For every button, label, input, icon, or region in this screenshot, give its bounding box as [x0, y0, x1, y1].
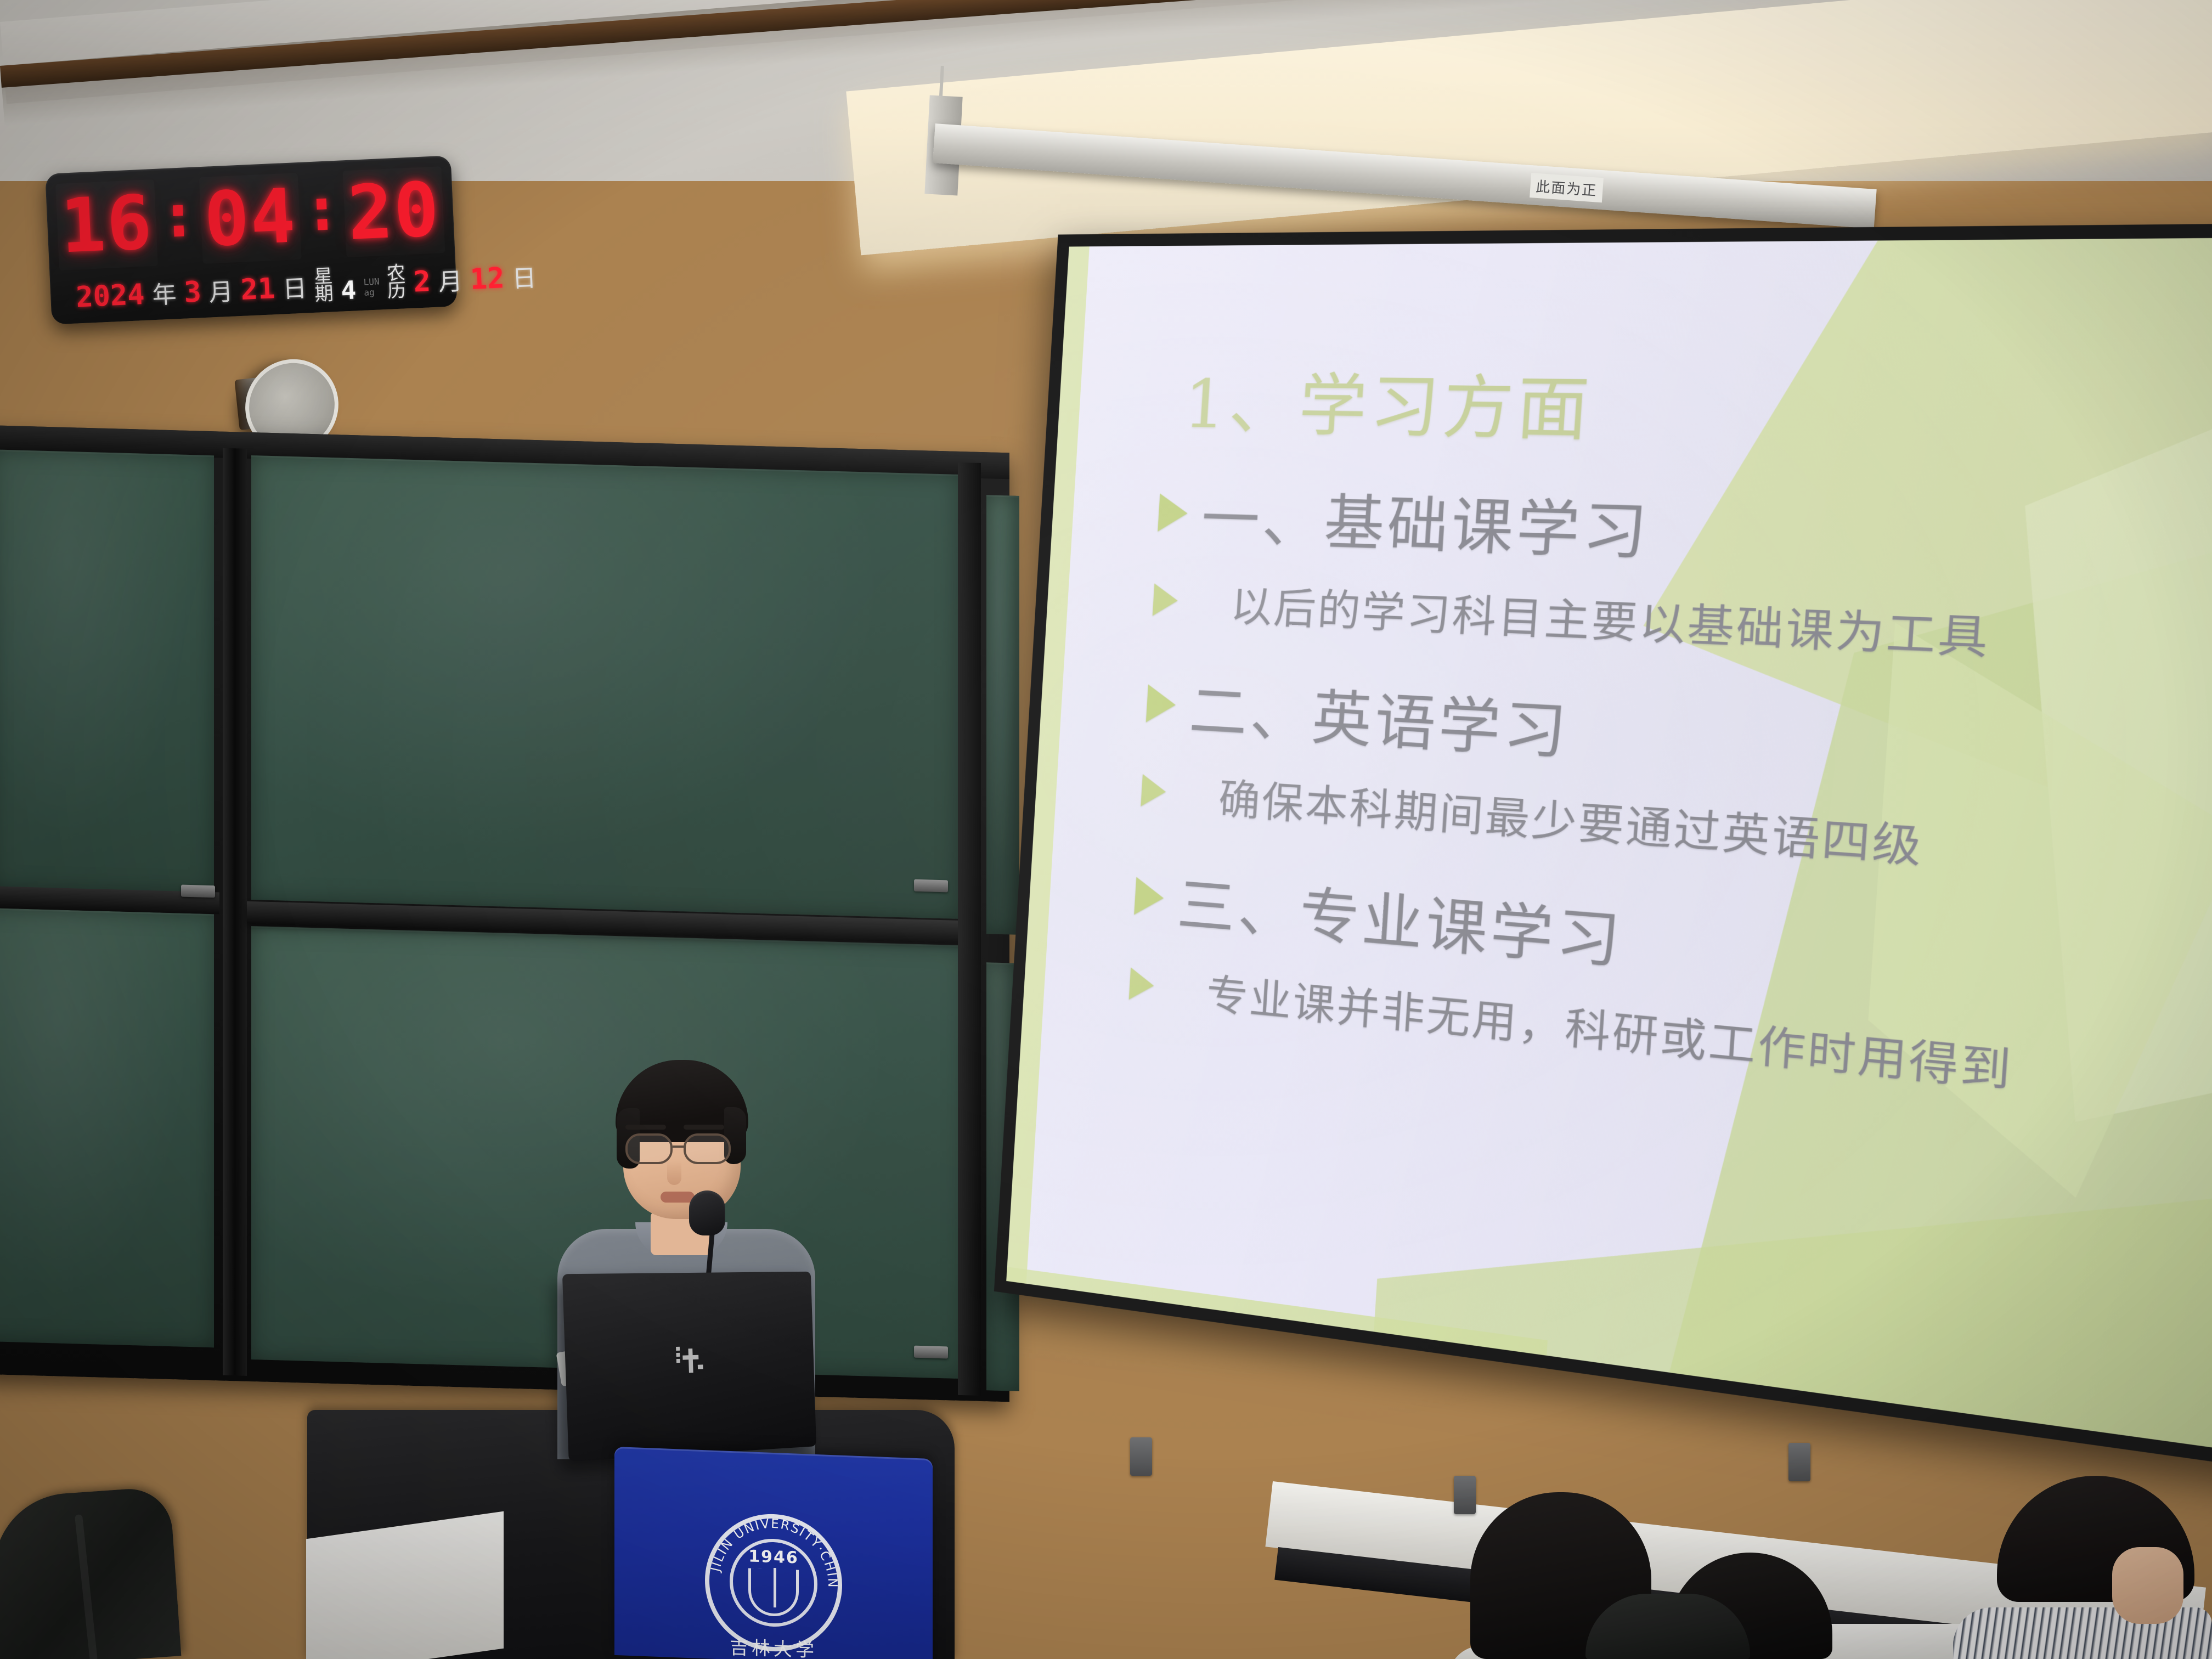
triangle-bullet-icon	[1129, 967, 1155, 1002]
student-4-face	[2112, 1547, 2183, 1624]
blackboard-panel-right-top	[986, 495, 1019, 935]
glasses-icon	[623, 1133, 744, 1167]
triangle-bullet-icon	[1134, 877, 1165, 917]
clock-weekday-value-wrap: 4	[341, 278, 357, 302]
clock-year-unit: 年	[151, 274, 177, 311]
microphone-head	[689, 1190, 725, 1235]
clock-month-value: 3	[183, 275, 202, 309]
presenter-mouth	[661, 1192, 695, 1203]
presenter-eyebrow-right	[684, 1125, 724, 1130]
digital-wall-clock: 16 : 04 : 20 2024 年 3 月 21 日 星 期 4 LUN a…	[45, 155, 458, 324]
clock-weekday-value: 4	[341, 278, 357, 302]
presenter-nose	[667, 1161, 681, 1185]
clock-seconds: 20	[343, 166, 445, 257]
clock-colon-2: :	[302, 173, 342, 245]
clock-lunar-label-bottom: 历	[387, 282, 407, 300]
slide-content: 1、学习方面 一、基础课学习 以后的学习科目主要以基础课为工具 二、英语学习 确…	[1006, 236, 2212, 1464]
clock-day-unit: 日	[282, 269, 308, 305]
blackboard-panel-left-bottom	[0, 907, 214, 1347]
slide-bullet-2-text: 以后的学习科目主要以基础课为工具	[1229, 572, 1993, 667]
slide-bullet-1: 一、基础课学习	[1156, 470, 1654, 572]
wall-outlet-plate-2	[1788, 1443, 1810, 1481]
slide-bullet-6-text: 专业课并非无用，科研或工作时用得到	[1205, 961, 2015, 1100]
clock-lunar-month-value: 2	[413, 265, 431, 298]
screen-housing-label: 此面为正	[1530, 173, 1604, 202]
slide-bullet-5-text: 三、专业课学习	[1175, 857, 1627, 980]
presenter-monitor	[562, 1272, 816, 1462]
emblem-chinese-name: 吉林大学	[713, 1632, 834, 1659]
clock-year-value: 2024	[75, 278, 145, 314]
student-3-cap	[1585, 1594, 1750, 1659]
blackboard-slide-clip-3	[914, 1346, 948, 1359]
slide-bullet-2: 以后的学习科目主要以基础课为工具	[1152, 569, 1993, 667]
blackboard-slide-clip-1	[181, 885, 215, 898]
hp-logo-icon	[673, 1342, 708, 1379]
presentation-slide: 1、学习方面 一、基础课学习 以后的学习科目主要以基础课为工具 二、英语学习 确…	[1006, 236, 2212, 1464]
student-4	[1997, 1476, 2194, 1659]
clock-tiny-mark: LUN ag	[363, 276, 380, 297]
triangle-bullet-icon	[1153, 583, 1179, 617]
blackboard-panel-left-top	[0, 449, 214, 894]
clock-lunar-day-unit: 日	[511, 258, 537, 295]
emblem-ring-text: JILIN UNIVERSITY·CHINA	[697, 1503, 839, 1589]
lecture-hall-photo: 16 : 04 : 20 2024 年 3 月 21 日 星 期 4 LUN a…	[0, 0, 2212, 1659]
slide-title: 1、学习方面	[1182, 350, 1596, 454]
clock-lunar-day-value: 12	[469, 262, 505, 296]
triangle-bullet-icon	[1146, 684, 1177, 724]
slide-bullet-4-text: 确保本科期间最少要通过英语四级	[1217, 765, 1926, 876]
glasses-lens-left	[625, 1133, 673, 1164]
clock-colon-1: :	[159, 180, 198, 252]
clock-minutes: 04	[199, 173, 302, 264]
clock-hours: 16	[55, 179, 158, 270]
blackboard-panel-center-top	[251, 455, 958, 919]
clock-month-unit: 月	[208, 272, 234, 308]
blackboard-right-edge	[958, 462, 981, 1396]
slide-bullet-1-text: 一、基础课学习	[1199, 471, 1654, 572]
slide-bullet-3-text: 二、英语学习	[1187, 663, 1573, 771]
clock-day-value: 21	[240, 272, 275, 307]
slide-bullet-3: 二、英语学习	[1144, 661, 1573, 771]
blackboard-slide-clip-2	[914, 879, 948, 893]
clock-weekday: 星 期	[314, 268, 334, 303]
projection-screen: 1、学习方面 一、基础课学习 以后的学习科目主要以基础课为工具 二、英语学习 确…	[994, 222, 2212, 1480]
glasses-lens-right	[684, 1133, 731, 1164]
triangle-bullet-icon	[1158, 493, 1188, 532]
clock-weekday-label-bottom: 期	[314, 285, 334, 303]
clock-lunar-label: 农 历	[386, 265, 407, 300]
student-3	[1585, 1594, 1750, 1659]
clock-time-row: 16 : 04 : 20	[58, 166, 443, 270]
presenter-eyebrow-left	[625, 1125, 666, 1130]
clock-lunar-month-unit: 月	[437, 262, 463, 298]
wall-outlet-plate-3	[1130, 1437, 1152, 1476]
blackboard-vertical-divider	[223, 448, 247, 1376]
slide-bullet-4: 确保本科期间最少要通过英语四级	[1140, 760, 1926, 876]
triangle-bullet-icon	[1141, 774, 1166, 808]
